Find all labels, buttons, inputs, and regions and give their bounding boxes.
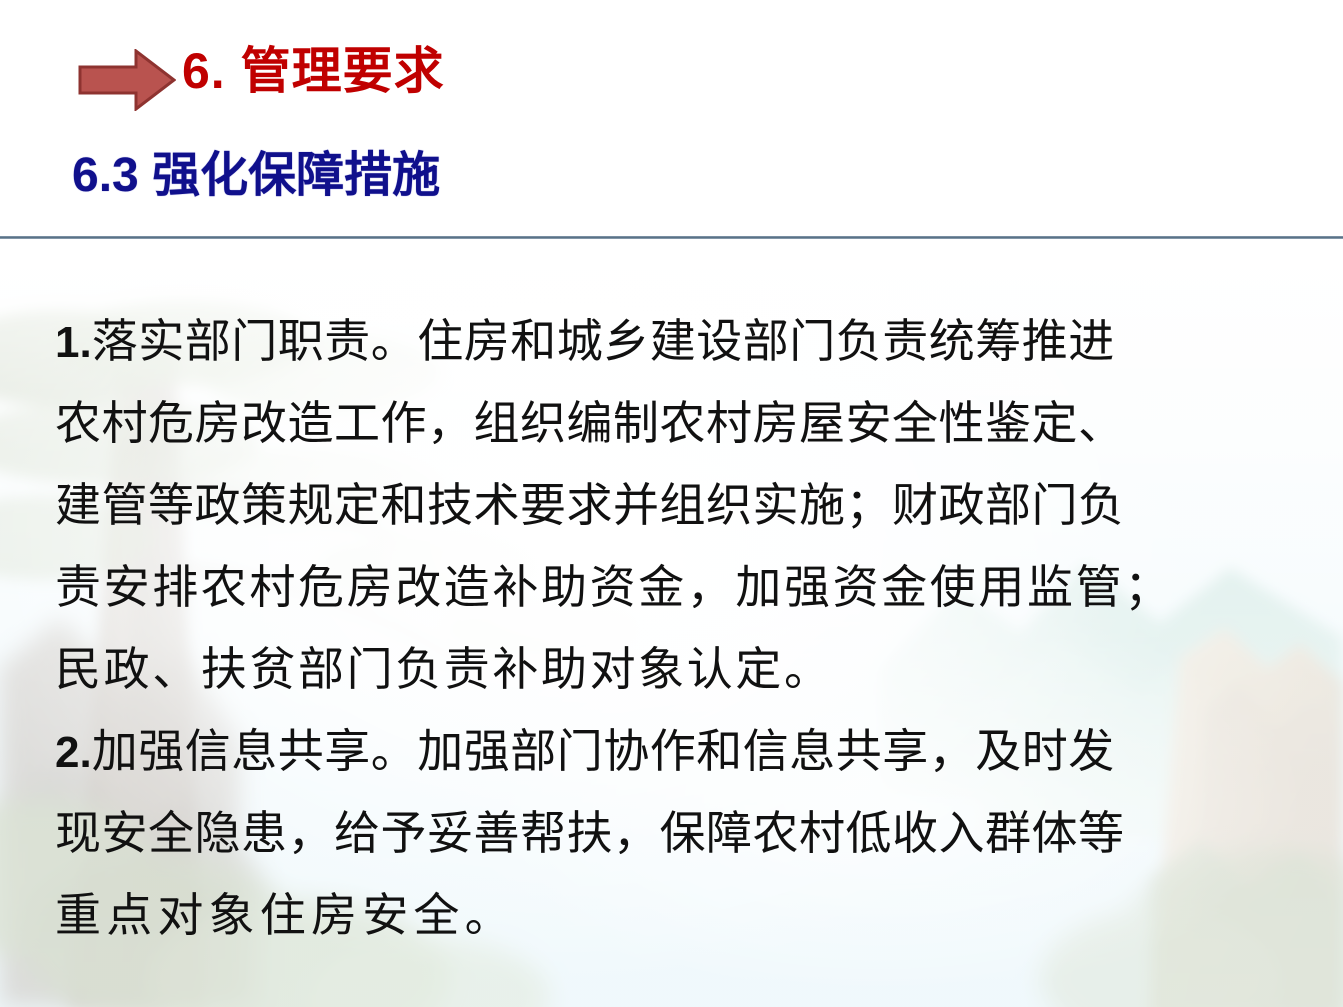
page-title: 6. 管理要求 (182, 43, 445, 101)
body-line: 重点对象住房安全。 (55, 874, 1215, 956)
section-subtitle: 6.3 强化保障措施 (72, 150, 440, 203)
body-line-text: 责安排农村危房改造补助资金，加强资金使用监管； (55, 560, 1173, 614)
body-line-text: 民政、扶贫部门负责补助对象认定。 (55, 642, 833, 696)
body-line-text: 农村危房改造工作，组织编制农村房屋安全性鉴定、 (55, 396, 1125, 450)
body-line: 责安排农村危房改造补助资金，加强资金使用监管； (55, 546, 1215, 628)
body-line: 农村危房改造工作，组织编制农村房屋安全性鉴定、 (55, 382, 1215, 464)
slide-header: 6. 管理要求 6.3 强化保障措施 (0, 0, 1343, 238)
body-content: 1.落实部门职责。住房和城乡建设部门负责统筹推进 农村危房改造工作，组织编制农村… (55, 300, 1215, 956)
body-line: 1.落实部门职责。住房和城乡建设部门负责统筹推进 (55, 300, 1215, 382)
body-line: 2.加强信息共享。加强部门协作和信息共享，及时发 (55, 710, 1215, 792)
body-line: 民政、扶贫部门负责补助对象认定。 (55, 628, 1215, 710)
body-line: 建管等政策规定和技术要求并组织实施；财政部门负 (55, 464, 1215, 546)
right-arrow-icon (78, 49, 176, 111)
list-marker: 2. (55, 728, 92, 777)
header-divider (0, 236, 1343, 239)
body-line-text: 落实部门职责。住房和城乡建设部门负责统筹推进 (92, 314, 1115, 368)
list-marker: 1. (55, 318, 92, 367)
body-line-text: 建管等政策规定和技术要求并组织实施；财政部门负 (55, 478, 1125, 532)
slide: 6. 管理要求 6.3 强化保障措施 1.落实部门职责。住房和城乡建设部门负责统… (0, 0, 1343, 1007)
body-line: 现安全隐患，给予妥善帮扶，保障农村低收入群体等 (55, 792, 1215, 874)
body-line-text: 加强信息共享。加强部门协作和信息共享，及时发 (92, 724, 1115, 778)
body-line-text: 重点对象住房安全。 (55, 888, 516, 942)
body-line-text: 现安全隐患，给予妥善帮扶，保障农村低收入群体等 (55, 806, 1125, 860)
